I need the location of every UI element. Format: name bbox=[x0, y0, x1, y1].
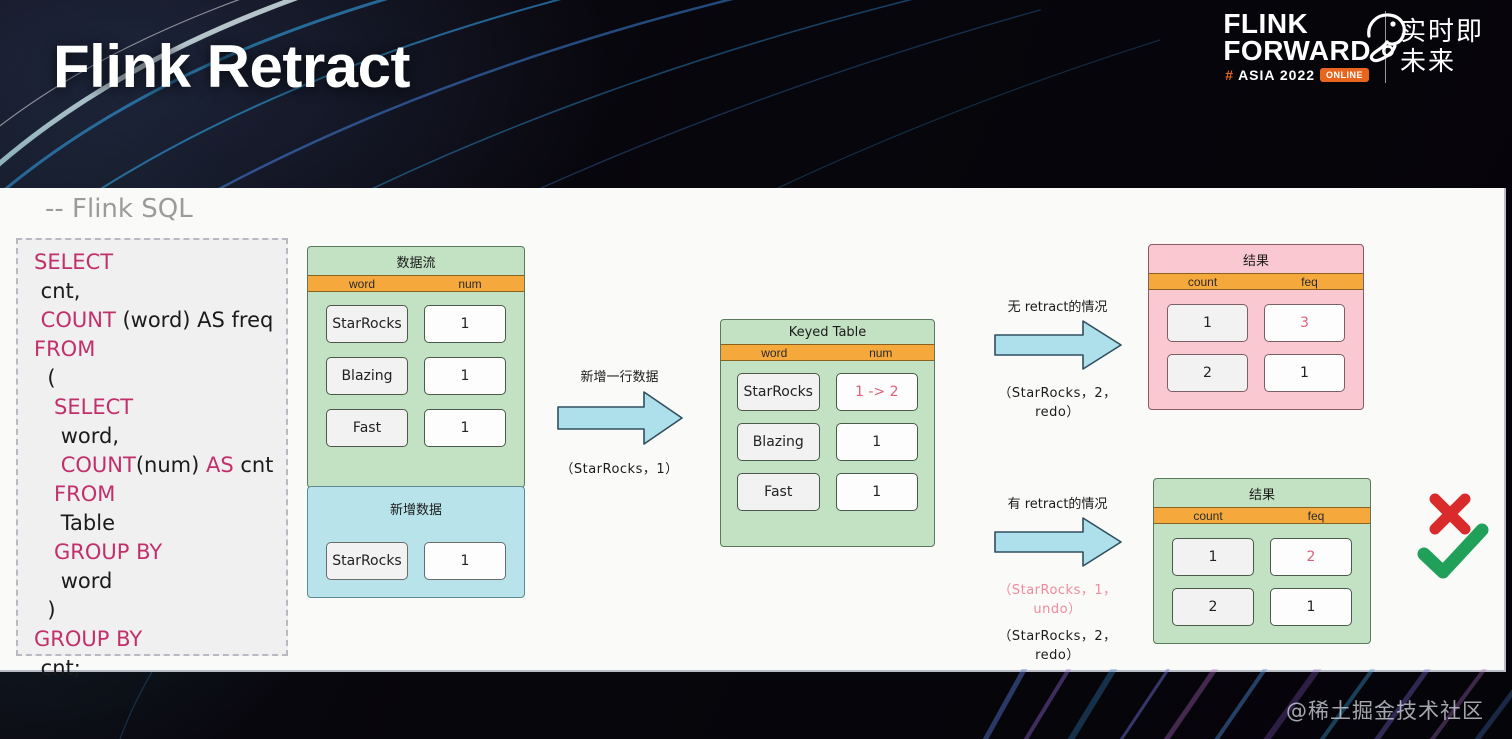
sql-line: FROM bbox=[34, 480, 286, 509]
column-header-feq: feq bbox=[1256, 275, 1363, 289]
slide-header: Flink Retract FLINK FORWARD # ASIA 2022 … bbox=[0, 0, 1512, 188]
sql-keyword: COUNT bbox=[34, 308, 116, 332]
sql-line: SELECT bbox=[34, 248, 286, 277]
cell-feq-highlight: 3 bbox=[1264, 304, 1345, 342]
result-right-rows: 1 2 2 1 bbox=[1154, 524, 1370, 640]
new-data-title: 新增数据 bbox=[308, 487, 524, 522]
stream-table-panel: 数据流 word num StarRocks 1 Blazing 1 Fast … bbox=[307, 246, 525, 488]
keyed-table-title: Keyed Table bbox=[721, 320, 934, 344]
logo-event-name: ASIA 2022 bbox=[1238, 67, 1315, 83]
sql-text: (num) bbox=[136, 453, 206, 477]
sql-keyword: SELECT bbox=[34, 250, 113, 274]
cell-word: Blazing bbox=[326, 357, 408, 395]
cell-word: Fast bbox=[737, 473, 820, 511]
column-header-num: num bbox=[416, 277, 524, 291]
table-row: 1 3 bbox=[1167, 304, 1345, 342]
flink-forward-logo: FLINK FORWARD # ASIA 2022 ONLINE 实时即 未来 bbox=[1223, 10, 1484, 83]
sql-keyword: SELECT bbox=[34, 395, 133, 419]
logo-cn-line1: 实时即 bbox=[1400, 17, 1484, 47]
table-row: Fast 1 bbox=[326, 409, 506, 447]
result-wrong-panel: 结果 count feq 1 3 2 1 bbox=[1148, 244, 1364, 410]
logo-line-flink: FLINK bbox=[1223, 10, 1308, 37]
sql-keyword: COUNT bbox=[34, 453, 136, 477]
table-row: 2 1 bbox=[1167, 354, 1345, 392]
column-header-count: count bbox=[1154, 509, 1262, 523]
cell-word: Fast bbox=[326, 409, 408, 447]
sql-text: cnt, bbox=[34, 279, 80, 303]
table-row: StarRocks 1 -> 2 bbox=[737, 373, 918, 411]
sql-keyword: AS bbox=[206, 453, 234, 477]
sql-line: word bbox=[34, 567, 286, 596]
squirrel-icon bbox=[1347, 10, 1409, 71]
arrow-with-retract-group: 有 retract的情况 （StarRocks，1， undo） （StarRo… bbox=[985, 493, 1130, 663]
sql-line: Table bbox=[34, 509, 286, 538]
sql-line: FROM bbox=[34, 335, 286, 364]
keyed-table-rows: StarRocks 1 -> 2 Blazing 1 Fast 1 bbox=[721, 361, 934, 523]
new-data-panel: 新增数据 StarRocks 1 bbox=[307, 486, 525, 598]
cell-num: 1 bbox=[424, 542, 506, 580]
keyed-table-panel: Keyed Table word num StarRocks 1 -> 2 Bl… bbox=[720, 319, 935, 547]
table-row: 2 1 bbox=[1172, 588, 1352, 626]
sql-line: COUNT(num) AS cnt bbox=[34, 451, 286, 480]
logo-cn-line2: 未来 bbox=[1400, 47, 1484, 77]
sql-line: GROUP BY bbox=[34, 625, 286, 654]
cell-num: 1 bbox=[424, 357, 506, 395]
sql-text: Table bbox=[34, 511, 115, 535]
result-wrong-column-header: count feq bbox=[1149, 273, 1363, 290]
cell-num: 1 bbox=[836, 473, 919, 511]
sql-code-lines: SELECT cnt, COUNT (word) AS freqFROM ( S… bbox=[34, 248, 286, 683]
sql-line: ( bbox=[34, 364, 286, 393]
arrow-insert-label-top: 新增一行数据 bbox=[552, 366, 687, 385]
arrow-no-retract-group: 无 retract的情况 （StarRocks，2， redo） bbox=[985, 296, 1130, 420]
arrow-no-retract-label-top: 无 retract的情况 bbox=[985, 296, 1130, 315]
sql-text: word bbox=[34, 569, 112, 593]
watermark-text: @稀土掘金技术社区 bbox=[1286, 695, 1484, 725]
cell-feq: 1 bbox=[1270, 588, 1352, 626]
cell-count: 1 bbox=[1172, 538, 1254, 576]
right-arrow-icon bbox=[993, 319, 1123, 371]
sql-line: SELECT bbox=[34, 393, 286, 422]
cell-feq-highlight: 2 bbox=[1270, 538, 1352, 576]
table-row: StarRocks 1 bbox=[326, 305, 506, 343]
arrow-insert-label-bottom: （StarRocks，1） bbox=[552, 458, 687, 477]
page-title: Flink Retract bbox=[53, 32, 410, 101]
result-right-title: 结果 bbox=[1154, 479, 1370, 507]
table-row: 1 2 bbox=[1172, 538, 1352, 576]
sql-line: COUNT (word) AS freq bbox=[34, 306, 286, 335]
sql-text: (word) AS freq bbox=[116, 308, 274, 332]
sql-keyword: GROUP BY bbox=[34, 540, 162, 564]
column-header-count: count bbox=[1149, 275, 1256, 289]
stream-table-title: 数据流 bbox=[308, 247, 524, 275]
cell-num: 1 bbox=[836, 423, 919, 461]
new-data-rows: StarRocks 1 bbox=[308, 522, 524, 594]
right-arrow-icon bbox=[993, 516, 1123, 568]
table-row: Blazing 1 bbox=[326, 357, 506, 395]
sql-line: cnt, bbox=[34, 277, 286, 306]
sql-text: ( bbox=[34, 366, 56, 390]
sql-text: cnt bbox=[234, 453, 274, 477]
column-header-word: word bbox=[308, 277, 416, 291]
stream-table-rows: StarRocks 1 Blazing 1 Fast 1 bbox=[308, 292, 524, 461]
sql-keyword: FROM bbox=[34, 482, 115, 506]
cell-num: 1 bbox=[424, 409, 506, 447]
cell-feq: 1 bbox=[1264, 354, 1345, 392]
check-mark-icon bbox=[1414, 518, 1492, 587]
table-row: StarRocks 1 bbox=[326, 542, 506, 580]
cell-count: 2 bbox=[1167, 354, 1248, 392]
arrow-with-retract-label-top: 有 retract的情况 bbox=[985, 493, 1130, 512]
hash-icon: # bbox=[1225, 67, 1233, 83]
stream-table-column-header: word num bbox=[308, 275, 524, 292]
arrow-insert-group: 新增一行数据 （StarRocks，1） bbox=[552, 366, 687, 477]
cell-word: Blazing bbox=[737, 423, 820, 461]
keyed-table-column-header: word num bbox=[721, 344, 934, 361]
cell-word: StarRocks bbox=[326, 305, 408, 343]
slide-content-panel: -- Flink SQL SELECT cnt, COUNT (word) AS… bbox=[0, 188, 1506, 672]
cell-word: StarRocks bbox=[737, 373, 820, 411]
result-right-column-header: count feq bbox=[1154, 507, 1370, 524]
right-arrow-icon bbox=[556, 389, 684, 447]
sql-text: word, bbox=[34, 424, 119, 448]
result-wrong-rows: 1 3 2 1 bbox=[1149, 290, 1363, 406]
cell-count: 2 bbox=[1172, 588, 1254, 626]
result-wrong-title: 结果 bbox=[1149, 245, 1363, 273]
result-right-panel: 结果 count feq 1 2 2 1 bbox=[1153, 478, 1371, 644]
cell-count: 1 bbox=[1167, 304, 1248, 342]
sql-line: GROUP BY bbox=[34, 538, 286, 567]
flink-sql-comment-label: -- Flink SQL bbox=[45, 194, 193, 224]
cell-num-updated: 1 -> 2 bbox=[836, 373, 919, 411]
cell-num: 1 bbox=[424, 305, 506, 343]
logo-chinese-text: 实时即 未来 bbox=[1400, 17, 1484, 77]
column-header-feq: feq bbox=[1262, 509, 1370, 523]
sql-keyword: FROM bbox=[34, 337, 95, 361]
column-header-word: word bbox=[721, 346, 828, 360]
sql-code-block: SELECT cnt, COUNT (word) AS freqFROM ( S… bbox=[16, 238, 288, 656]
sql-keyword: GROUP BY bbox=[34, 627, 142, 651]
column-header-num: num bbox=[828, 346, 935, 360]
arrow-with-retract-label-undo: （StarRocks，1， undo） bbox=[985, 579, 1130, 617]
logo-text-block: FLINK FORWARD # ASIA 2022 ONLINE bbox=[1223, 10, 1371, 83]
table-row: Fast 1 bbox=[737, 473, 918, 511]
table-row: Blazing 1 bbox=[737, 423, 918, 461]
cell-word: StarRocks bbox=[326, 542, 408, 580]
sql-line: ) bbox=[34, 596, 286, 625]
arrow-no-retract-label-bottom: （StarRocks，2， redo） bbox=[985, 382, 1130, 420]
arrow-with-retract-label-redo: （StarRocks，2， redo） bbox=[985, 625, 1130, 663]
sql-line: word, bbox=[34, 422, 286, 451]
sql-text: ) bbox=[34, 598, 56, 622]
